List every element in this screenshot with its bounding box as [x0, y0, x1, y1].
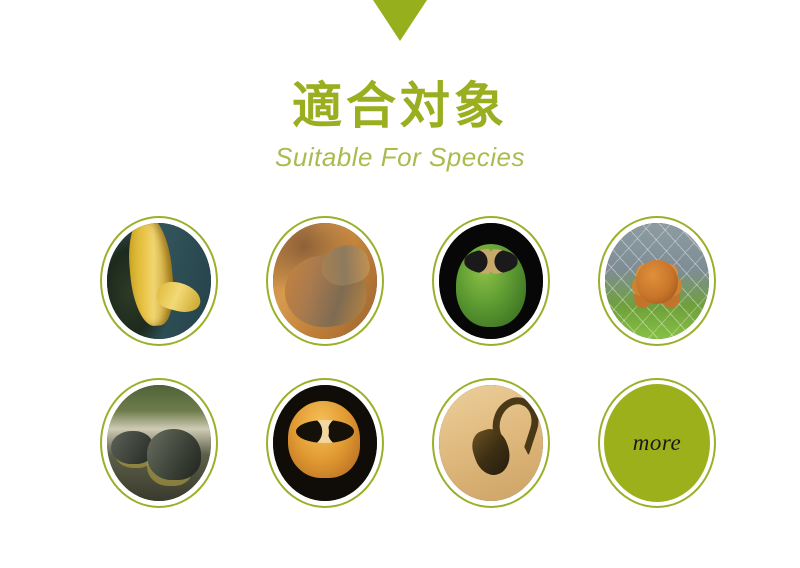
species-grid: more — [100, 216, 718, 508]
page-header: 適合対象 Suitable For Species — [0, 78, 800, 173]
page-subtitle: Suitable For Species — [0, 142, 800, 173]
more-label: more — [633, 430, 681, 456]
frog-illustration — [439, 223, 543, 339]
snake-photo — [107, 223, 211, 339]
species-item-frog[interactable] — [432, 216, 550, 346]
species-item-scorpion[interactable] — [432, 378, 550, 508]
species-item-spider[interactable] — [598, 216, 716, 346]
snake-illustration — [107, 223, 211, 339]
frog-photo — [439, 223, 543, 339]
more-button[interactable]: more — [598, 378, 716, 508]
species-item-snake[interactable] — [100, 216, 218, 346]
spider-illustration — [605, 223, 709, 339]
iguana-photo — [273, 223, 377, 339]
turtle-photo — [107, 385, 211, 501]
spider-photo — [605, 223, 709, 339]
scorpion-photo — [439, 385, 543, 501]
page-title: 適合対象 — [0, 78, 800, 136]
gecko-illustration — [273, 385, 377, 501]
scorpion-illustration — [439, 385, 543, 501]
iguana-illustration — [273, 223, 377, 339]
species-item-gecko[interactable] — [266, 378, 384, 508]
more-fill: more — [604, 384, 710, 502]
species-item-turtle[interactable] — [100, 378, 218, 508]
turtle-illustration — [107, 385, 211, 501]
gecko-photo — [273, 385, 377, 501]
species-item-iguana[interactable] — [266, 216, 384, 346]
top-arrow-icon — [373, 0, 427, 41]
